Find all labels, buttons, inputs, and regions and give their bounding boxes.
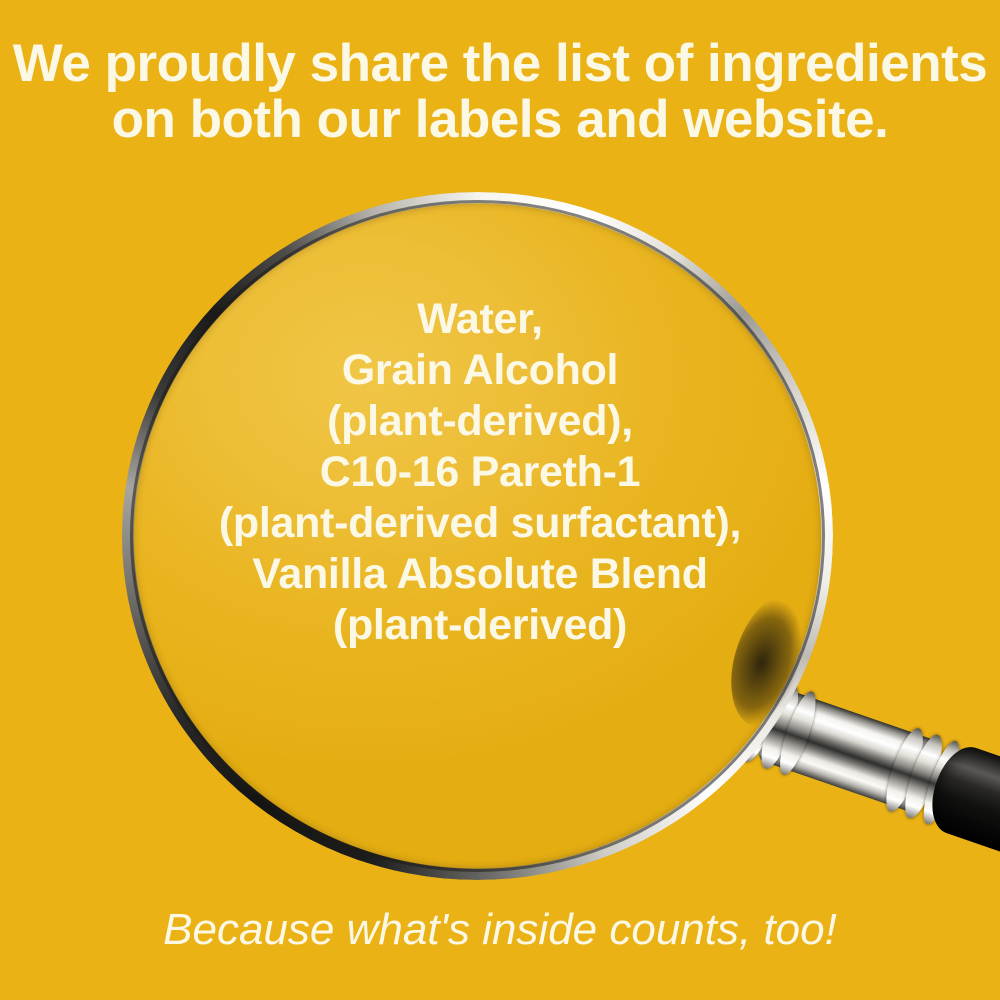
magnifying-glass-illustration: Water, Grain Alcohol (plant-derived), C1… [0, 0, 1000, 1000]
promo-graphic: We proudly share the list of ingredients… [0, 0, 1000, 1000]
magnifier-rim-inner-edge [130, 200, 825, 872]
